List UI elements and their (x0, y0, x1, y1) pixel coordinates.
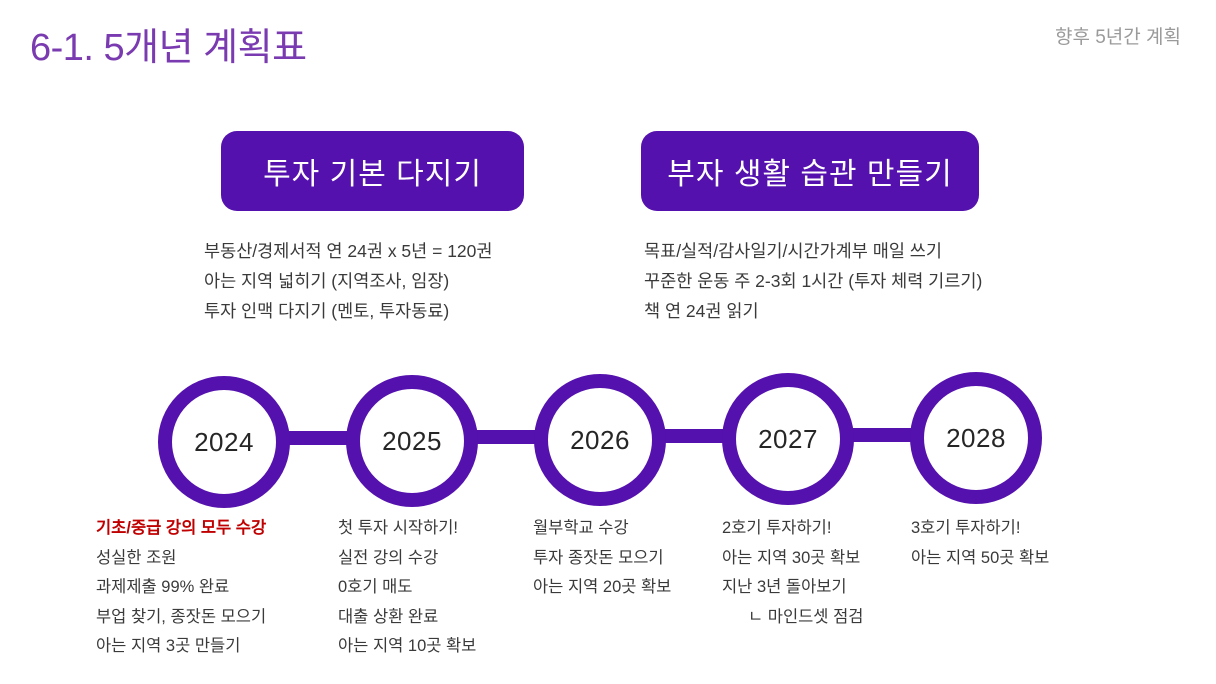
pillar-box-1-label: 투자 기본 다지기 (263, 149, 482, 193)
timeline-node-2026: 2026 (534, 374, 666, 506)
timeline-notes-2026: 월부학교 수강 투자 종잣돈 모으기 아는 지역 20곳 확보 (533, 514, 671, 603)
note-line: 과제제출 99% 완료 (96, 573, 266, 603)
timeline-connector-3 (644, 429, 740, 443)
pillar-body-2: 목표/실적/감사일기/시간가계부 매일 쓰기 꾸준한 운동 주 2-3회 1시간… (644, 236, 982, 326)
note-line: 실전 강의 수강 (338, 544, 476, 574)
timeline-node-2024-label: 2024 (194, 427, 254, 458)
header-note: 향후 5년간 계획 (1055, 22, 1181, 49)
timeline-connector-2 (456, 430, 552, 444)
pillar-body-2-line-3: 책 연 24권 읽기 (644, 296, 982, 326)
note-line: 부업 찾기, 종잣돈 모으기 (96, 603, 266, 633)
pillar-body-2-line-1: 목표/실적/감사일기/시간가계부 매일 쓰기 (644, 236, 982, 266)
page-title: 6-1. 5개년 계획표 (30, 16, 307, 71)
note-line: 아는 지역 3곳 만들기 (96, 632, 266, 662)
pillar-box-1: 투자 기본 다지기 (221, 131, 524, 211)
timeline-notes-2028: 3호기 투자하기! 아는 지역 50곳 확보 (911, 514, 1049, 573)
timeline-notes-2027: 2호기 투자하기! 아는 지역 30곳 확보 지난 3년 돌아보기 ㄴ 마인드셋… (722, 514, 863, 632)
timeline-node-2026-label: 2026 (570, 425, 630, 456)
note-line: 아는 지역 30곳 확보 (722, 544, 863, 574)
timeline-node-2027-label: 2027 (758, 424, 818, 455)
note-line: 월부학교 수강 (533, 514, 671, 544)
note-line: 투자 종잣돈 모으기 (533, 544, 671, 574)
note-line: 아는 지역 50곳 확보 (911, 544, 1049, 574)
pillar-body-1-line-1: 부동산/경제서적 연 24권 x 5년 = 120권 (204, 236, 493, 266)
pillar-body-2-line-2: 꾸준한 운동 주 2-3회 1시간 (투자 체력 기르기) (644, 266, 982, 296)
timeline-node-2027: 2027 (722, 373, 854, 505)
timeline-node-2025: 2025 (346, 375, 478, 507)
timeline-connector-4 (832, 428, 928, 442)
timeline-node-2028-label: 2028 (946, 423, 1006, 454)
timeline-connector-1 (268, 431, 364, 445)
note-line: 첫 투자 시작하기! (338, 514, 476, 544)
note-line: 성실한 조원 (96, 544, 266, 574)
note-line: 아는 지역 20곳 확보 (533, 573, 671, 603)
pillar-body-1-line-2: 아는 지역 넓히기 (지역조사, 임장) (204, 266, 493, 296)
timeline-node-2025-label: 2025 (382, 426, 442, 457)
pillar-body-1: 부동산/경제서적 연 24권 x 5년 = 120권 아는 지역 넓히기 (지역… (204, 236, 493, 326)
note-line: 2호기 투자하기! (722, 514, 863, 544)
note-line: ㄴ 마인드셋 점검 (722, 603, 863, 633)
pillar-box-2-label: 부자 생활 습관 만들기 (667, 149, 952, 193)
note-line: 대출 상환 완료 (338, 603, 476, 633)
timeline-notes-2024: 기초/중급 강의 모두 수강 성실한 조원 과제제출 99% 완료 부업 찾기,… (96, 514, 266, 662)
pillar-box-2: 부자 생활 습관 만들기 (641, 131, 979, 211)
note-line: 3호기 투자하기! (911, 514, 1049, 544)
note-line: 기초/중급 강의 모두 수강 (96, 514, 266, 544)
note-line: 아는 지역 10곳 확보 (338, 632, 476, 662)
pillar-body-1-line-3: 투자 인맥 다지기 (멘토, 투자동료) (204, 296, 493, 326)
timeline-node-2028: 2028 (910, 372, 1042, 504)
note-line: 지난 3년 돌아보기 (722, 573, 863, 603)
timeline-notes-2025: 첫 투자 시작하기! 실전 강의 수강 0호기 매도 대출 상환 완료 아는 지… (338, 514, 476, 662)
note-line: 0호기 매도 (338, 573, 476, 603)
timeline-node-2024: 2024 (158, 376, 290, 508)
